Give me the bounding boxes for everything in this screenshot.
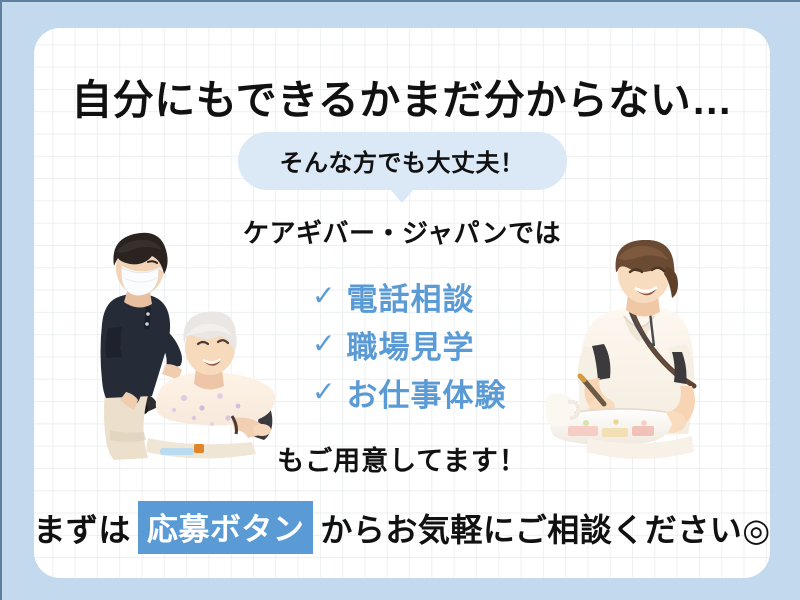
checklist-item-label: お仕事体験: [346, 370, 506, 415]
cta-suffix-text: からお気軽にご相談ください◎: [320, 505, 770, 551]
checklist-item-label: 電話相談: [346, 274, 474, 319]
list-item: ✓ 職場見学: [34, 320, 770, 368]
speech-bubble: そんな方でも大丈夫！: [238, 132, 567, 190]
check-icon: ✓: [312, 378, 335, 406]
company-subtitle: ケアギバー・ジャパンでは: [34, 213, 770, 250]
check-icon: ✓: [312, 330, 335, 358]
page-title: 自分にもできるかまだ分からない…: [34, 66, 770, 126]
list-item: ✓ 電話相談: [34, 272, 770, 320]
cta-prefix-text: まずは: [34, 505, 131, 551]
closing-text: もご用意してます！: [34, 439, 770, 478]
advertisement-canvas: 自分にもできるかまだ分からない… そんな方でも大丈夫！ ケアギバー・ジャパンでは…: [0, 0, 800, 600]
speech-bubble-tail: [390, 189, 414, 203]
cta-line: まずは 応募ボタン からお気軽にご相談ください◎: [34, 501, 770, 554]
speech-bubble-container: そんな方でも大丈夫！: [34, 132, 770, 190]
benefits-checklist: ✓ 電話相談 ✓ 職場見学 ✓ お仕事体験: [34, 272, 770, 416]
speech-bubble-text: そんな方でも大丈夫！: [280, 150, 525, 177]
white-grid-card: 自分にもできるかまだ分からない… そんな方でも大丈夫！ ケアギバー・ジャパンでは…: [34, 28, 770, 578]
check-icon: ✓: [312, 282, 335, 310]
list-item: ✓ お仕事体験: [34, 368, 770, 416]
checklist-item-label: 職場見学: [346, 322, 474, 367]
apply-button[interactable]: 応募ボタン: [138, 501, 314, 554]
